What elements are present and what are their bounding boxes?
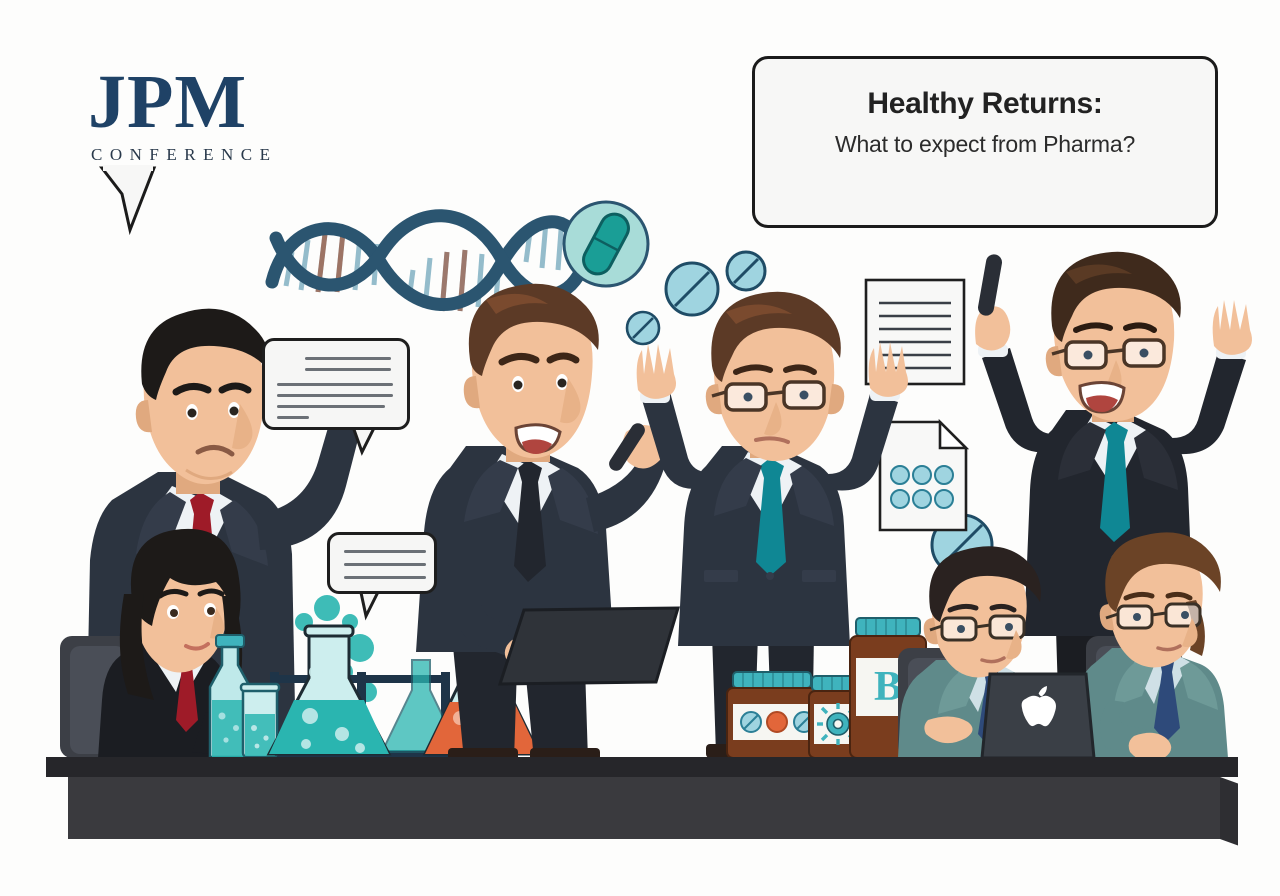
bottle-b-monogram: B — [874, 664, 902, 710]
illustration-canvas: B — [0, 0, 1280, 896]
jpm-conference-logo: JPM CONFERENCE — [88, 66, 318, 165]
logo-mark: JPM — [88, 66, 318, 138]
speech-bubble-title: Healthy Returns: — [867, 87, 1102, 121]
speech-bubble-subtitle: What to expect from Pharma? — [835, 131, 1135, 158]
main-speech-bubble: Healthy Returns: What to expect from Pha… — [752, 56, 1218, 228]
laptop — [982, 674, 1094, 758]
conference-desk-top — [46, 757, 1238, 777]
logo-subtitle: CONFERENCE — [88, 145, 318, 165]
bubble-left-upper — [262, 338, 410, 430]
capsule-icon — [564, 202, 648, 286]
pill-bottle-wide — [727, 672, 817, 758]
document-pills-icon — [880, 422, 966, 530]
clipboard-icon — [500, 608, 678, 684]
speech-bubble-tail — [100, 168, 160, 234]
bubble-left-lower — [327, 532, 437, 594]
conference-desk-front — [68, 777, 1220, 839]
